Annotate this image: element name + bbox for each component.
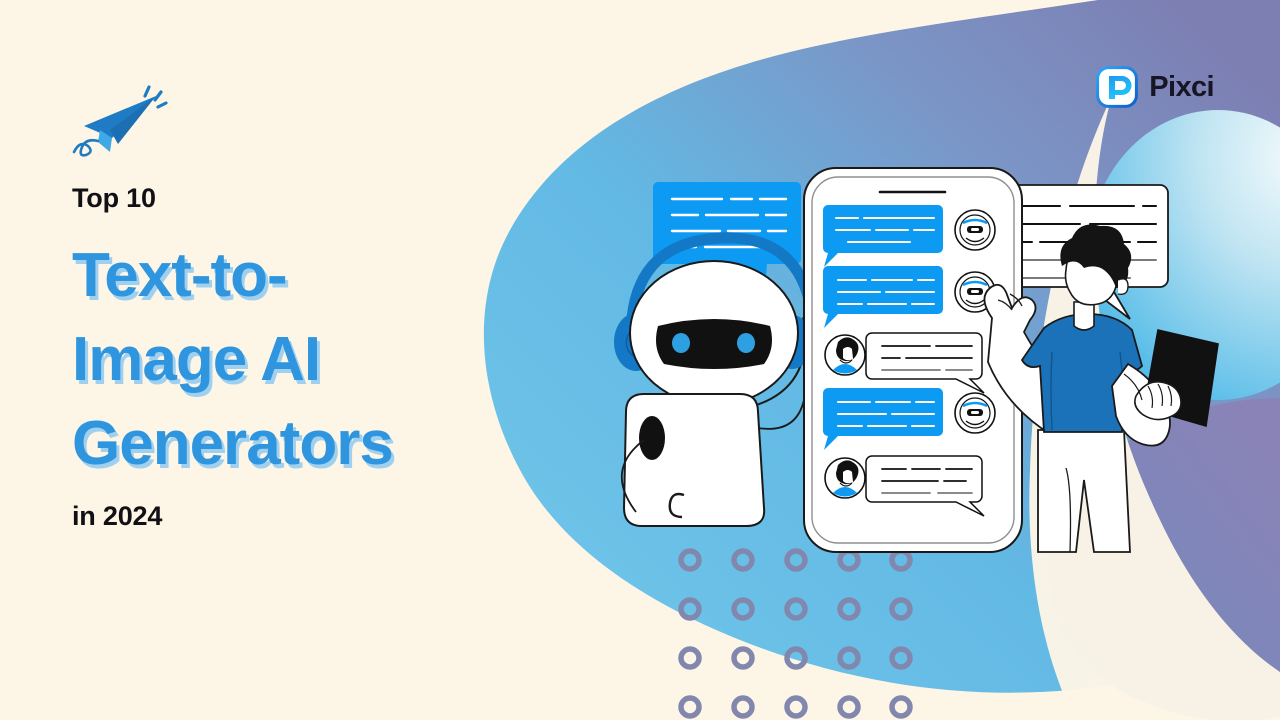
brand-name: Pixci xyxy=(1149,71,1214,104)
eyebrow-text: Top 10 xyxy=(72,184,502,214)
bot-avatar xyxy=(955,210,995,250)
pixci-p-logo-icon xyxy=(1096,66,1138,108)
paper-plane-decor xyxy=(72,80,182,160)
headline-line-1: Text-to- xyxy=(72,234,502,318)
brand-logo[interactable]: Pixci xyxy=(1096,66,1214,108)
user-avatar xyxy=(825,458,865,498)
subline-text: in 2024 xyxy=(72,501,502,532)
headline-line-2: Image AI xyxy=(72,318,502,402)
ai-chatbot-illustration xyxy=(600,130,1280,600)
paper-plane-icon xyxy=(72,80,182,160)
page-title: Text-to- Image AI Generators xyxy=(72,234,502,487)
poster-canvas: Top 10 Text-to- Image AI Generators in 2… xyxy=(0,0,1280,720)
user-avatar xyxy=(825,335,865,375)
hero-text-block: Top 10 Text-to- Image AI Generators in 2… xyxy=(72,80,502,532)
bot-avatar xyxy=(955,393,995,433)
headline-line-3: Generators xyxy=(72,402,502,486)
robot-assistant xyxy=(614,238,823,526)
